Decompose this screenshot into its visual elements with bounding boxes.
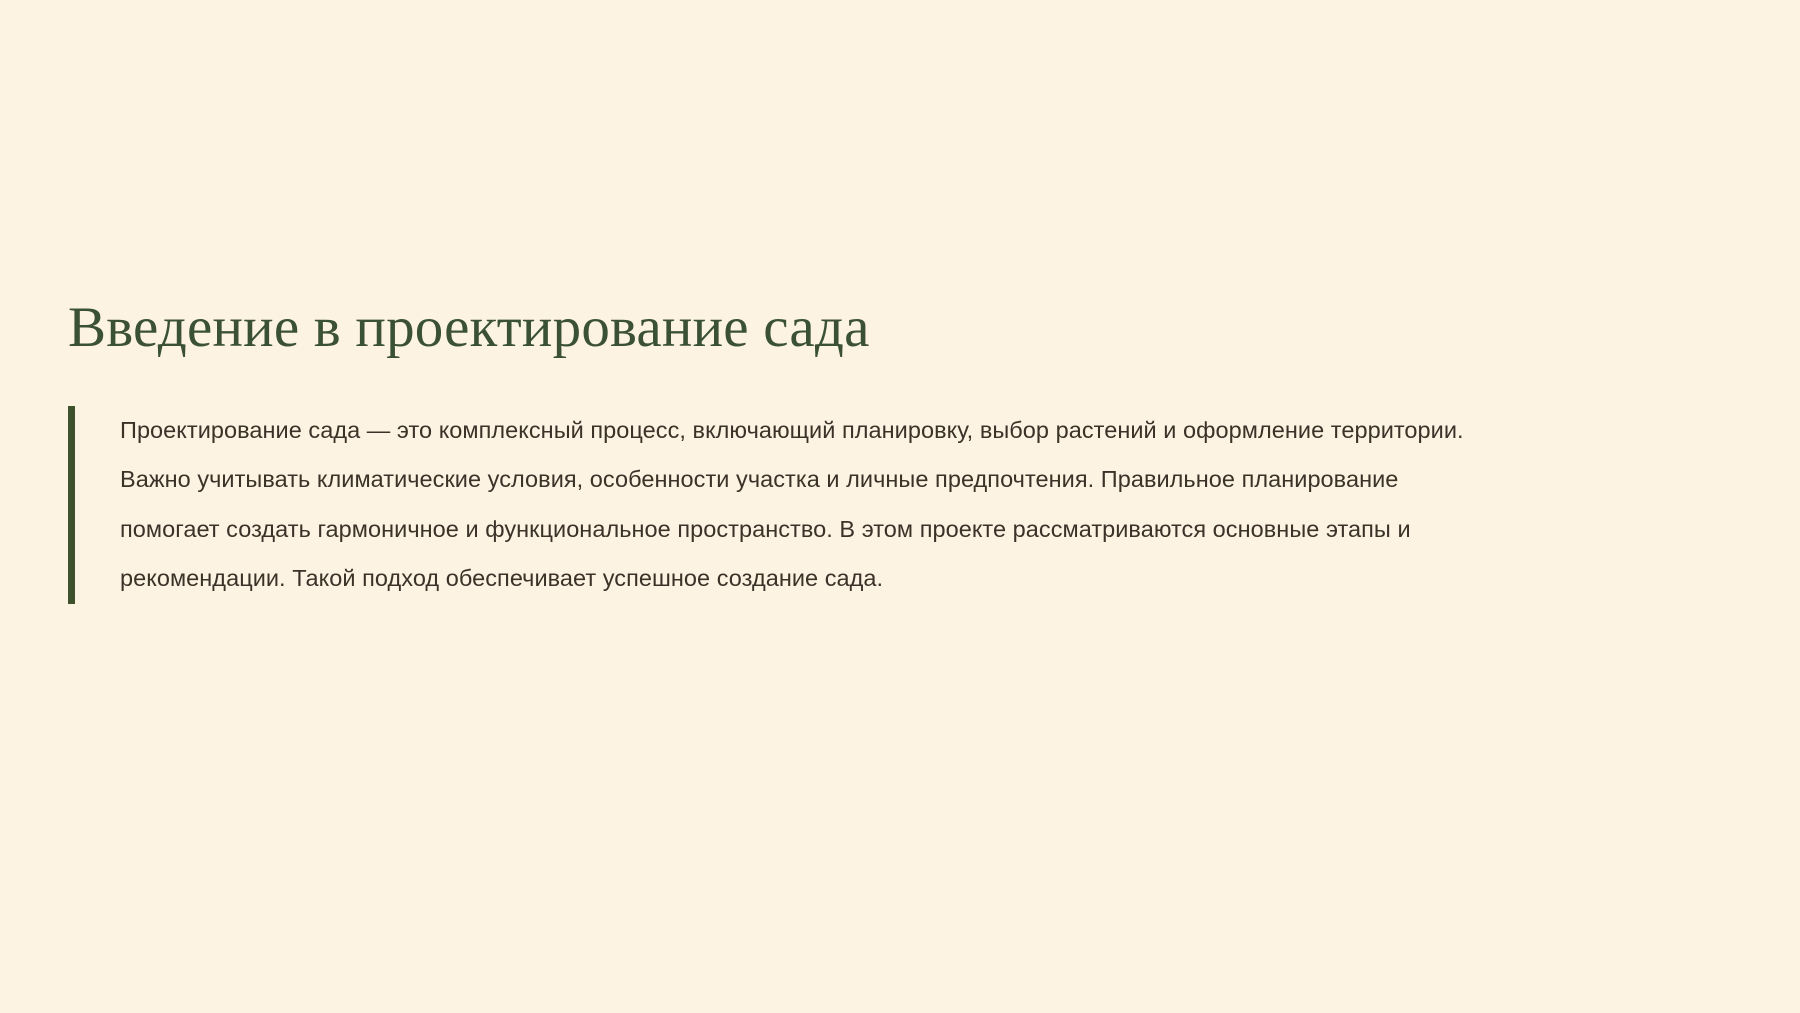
callout-paragraph: Проектирование сада — это комплексный пр… xyxy=(120,406,1493,604)
callout-block: Проектирование сада — это комплексный пр… xyxy=(68,406,1493,604)
page-title: Введение в проектирование сада xyxy=(68,296,1748,360)
slide-content: Введение в проектирование сада Проектиро… xyxy=(68,296,1748,604)
slide-canvas: Введение в проектирование сада Проектиро… xyxy=(0,0,1800,1013)
